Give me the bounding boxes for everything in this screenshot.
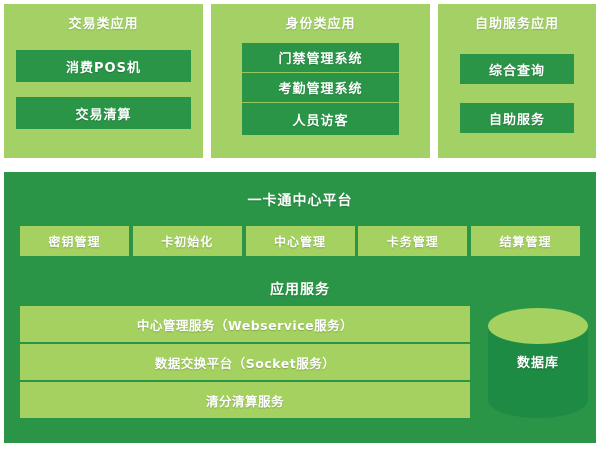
app-box-comprehensive-query[interactable]: 综合查询 <box>460 54 574 84</box>
service-center-management-webservice[interactable]: 中心管理服务（Webservice服务） <box>20 306 470 344</box>
panel-title-self-service: 自助服务应用 <box>438 13 596 32</box>
panel-self-service-applications: 自助服务应用 综合查询 自助服务 <box>438 4 596 158</box>
center-module-row: 密钥管理 卡初始化 中心管理 卡务管理 结算管理 <box>20 226 580 256</box>
module-key-management[interactable]: 密钥管理 <box>20 226 129 256</box>
service-clearing-settlement[interactable]: 清分清算服务 <box>20 382 470 418</box>
app-box-attendance-system[interactable]: 考勤管理系统 <box>242 73 399 103</box>
center-platform-section: 一卡通中心平台 密钥管理 卡初始化 中心管理 卡务管理 结算管理 应用服务 中心… <box>4 172 596 443</box>
application-services-stack: 中心管理服务（Webservice服务） 数据交换平台（Socket服务） 清分… <box>20 306 470 418</box>
database-label: 数据库 <box>488 352 588 371</box>
app-box-pos-terminal[interactable]: 消费POS机 <box>16 50 191 82</box>
panel-transaction-applications: 交易类应用 消费POS机 交易清算 <box>4 4 203 158</box>
module-card-initialization[interactable]: 卡初始化 <box>133 226 242 256</box>
service-data-exchange-socket[interactable]: 数据交换平台（Socket服务） <box>20 344 470 382</box>
panel-title-identity: 身份类应用 <box>211 13 430 32</box>
architecture-diagram: 交易类应用 消费POS机 交易清算 身份类应用 门禁管理系统 考勤管理系统 人员… <box>0 0 600 450</box>
app-box-self-service[interactable]: 自助服务 <box>460 103 574 133</box>
module-settlement-management[interactable]: 结算管理 <box>471 226 580 256</box>
panel-identity-applications: 身份类应用 门禁管理系统 考勤管理系统 人员访客 <box>211 4 430 158</box>
panel-title-transaction: 交易类应用 <box>4 13 203 32</box>
database-cylinder-top <box>488 308 588 344</box>
database-cylinder-icon: 数据库 <box>488 308 588 418</box>
app-box-transaction-clearing[interactable]: 交易清算 <box>16 97 191 129</box>
module-center-management[interactable]: 中心管理 <box>246 226 355 256</box>
application-services-title: 应用服务 <box>4 279 596 299</box>
app-box-visitor-management[interactable]: 人员访客 <box>242 103 399 135</box>
module-card-service-management[interactable]: 卡务管理 <box>358 226 467 256</box>
center-platform-title: 一卡通中心平台 <box>4 190 596 210</box>
app-box-access-control-system[interactable]: 门禁管理系统 <box>242 43 399 73</box>
